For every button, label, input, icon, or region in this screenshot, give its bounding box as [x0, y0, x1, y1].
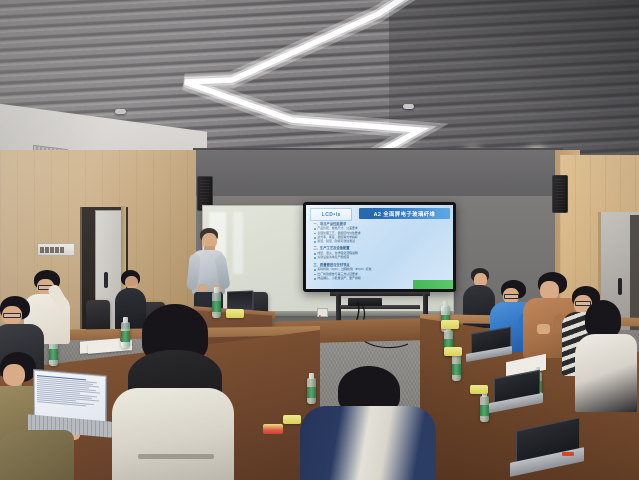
fruit-container[interactable] [263, 424, 283, 434]
conference-room-photo: LCD•ls A2 全面屏电子玻璃纤维 一、项目产品性能要求 产品外观、规格尺寸… [0, 0, 639, 480]
light-switch-panel[interactable] [37, 243, 75, 256]
glasses-icon [504, 294, 519, 299]
slide-logo-text: LCD•ls [322, 212, 341, 218]
switch-toggle[interactable] [50, 247, 54, 253]
presenter-hand-left [198, 284, 207, 292]
display-screen: LCD•ls A2 全面屏电子玻璃纤维 一、项目产品性能要求 产品外观、规格尺寸… [306, 205, 453, 289]
wall-speaker-right [552, 175, 568, 213]
switch-toggle[interactable] [55, 247, 59, 253]
attendee-center-navy-jacket [300, 366, 436, 480]
hand [537, 324, 550, 334]
switch-toggle[interactable] [45, 247, 49, 253]
slide-bullet: 产品外观、规格尺寸、公差要求 [313, 227, 445, 230]
chair[interactable] [86, 300, 110, 332]
slide-title: A2 全面屏电子玻璃纤维 [374, 210, 436, 218]
snack-bowl[interactable] [283, 415, 301, 424]
attendee-center-white-hood [112, 304, 234, 480]
snack-bowl[interactable] [470, 385, 488, 394]
slide-title-bar: A2 全面屏电子玻璃纤维 [359, 208, 450, 219]
jacket-print [138, 454, 214, 459]
torso [112, 388, 234, 480]
switch-toggle[interactable] [60, 247, 64, 253]
ceiling-sensor-icon [115, 109, 126, 114]
glasses-icon [3, 313, 21, 318]
slide-logo: LCD•ls [310, 208, 352, 221]
ceiling-sensor-icon [403, 104, 414, 109]
hair [585, 300, 621, 338]
face [3, 364, 25, 386]
water-bottle[interactable] [452, 355, 461, 381]
laptop-sticker [562, 452, 574, 456]
torso [300, 406, 436, 480]
snack-bowl[interactable] [441, 320, 459, 329]
snack-bowl[interactable] [444, 347, 462, 356]
attendee-foreground-shoulder [0, 430, 74, 480]
slide-footer-tag [413, 280, 453, 289]
attendee-right-white-sleeve [575, 300, 639, 412]
water-bottle[interactable] [480, 396, 489, 422]
switch-toggle[interactable] [40, 247, 44, 253]
slide-bullet: 关键设备清单及产能核算 [313, 256, 445, 259]
slide-bullet: 耐温、耐湿、耐候可靠性测试 [313, 240, 445, 243]
wall-upper-grey [193, 150, 563, 200]
wall-mounted-display[interactable]: LCD•ls A2 全面屏电子玻璃纤维 一、项目产品性能要求 产品外观、规格尺寸… [303, 202, 456, 292]
door-handle-icon[interactable] [618, 278, 622, 295]
slide-body: 一、项目产品性能要求 产品外观、规格尺寸、公差要求 表面处理工艺、镀膜层均匀性要… [313, 223, 445, 282]
slide-bullet: 来料检验（IQC）、过程检验（IPQC）标准 [313, 268, 445, 271]
torso [575, 334, 637, 412]
door-handle-icon[interactable] [104, 272, 108, 288]
